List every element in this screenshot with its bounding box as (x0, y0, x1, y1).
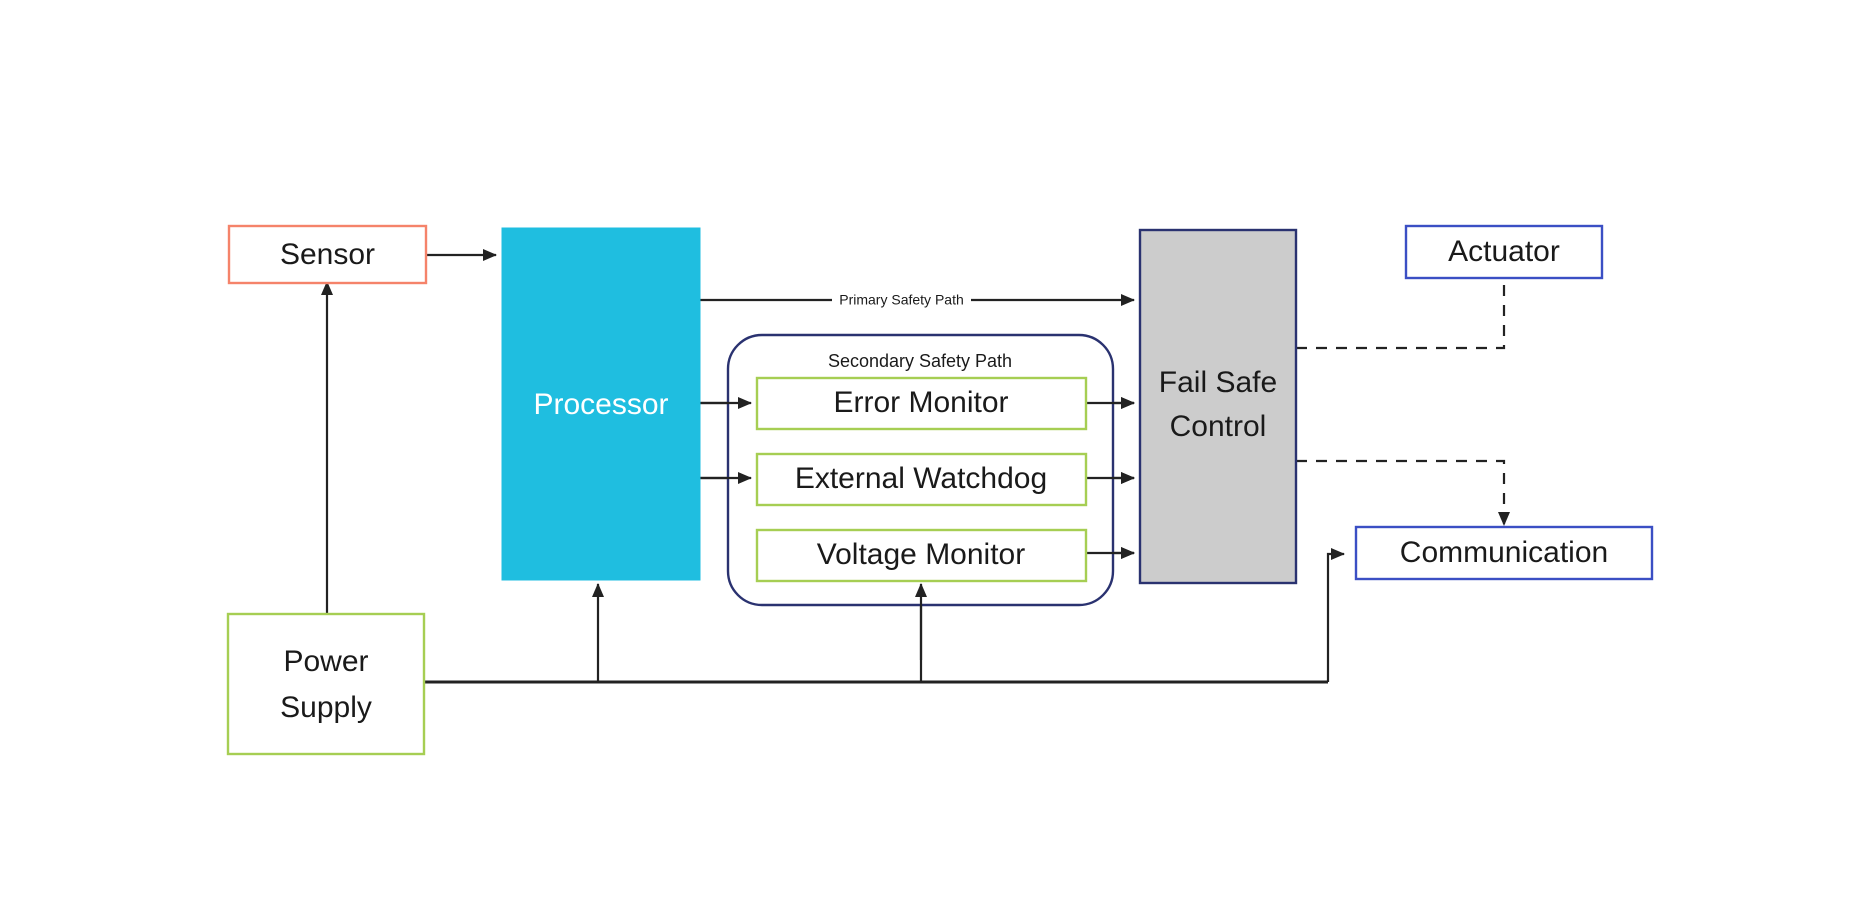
edge-fail-safe-to-communication (1296, 461, 1504, 525)
power-supply-box[interactable] (228, 614, 424, 754)
power-supply-label-line2: Supply (280, 691, 372, 724)
node-error-monitor[interactable]: Error Monitor (757, 378, 1086, 429)
node-external-watchdog[interactable]: External Watchdog (757, 454, 1086, 505)
voltage-monitor-label: Voltage Monitor (817, 538, 1025, 571)
node-communication[interactable]: Communication (1356, 527, 1652, 579)
error-monitor-label: Error Monitor (833, 386, 1008, 419)
node-fail-safe-control[interactable]: Fail Safe Control (1140, 230, 1296, 583)
block-diagram: Secondary Safety Path Sensor Processor E… (0, 0, 1876, 923)
processor-label: Processor (533, 388, 668, 421)
node-power-supply[interactable]: Power Supply (228, 614, 424, 754)
actuator-label: Actuator (1448, 235, 1560, 268)
node-actuator[interactable]: Actuator (1406, 226, 1602, 278)
communication-label: Communication (1400, 536, 1608, 569)
node-sensor[interactable]: Sensor (229, 226, 426, 283)
node-processor[interactable]: Processor (502, 228, 700, 580)
sensor-label: Sensor (280, 238, 375, 271)
diagram-canvas: Secondary Safety Path Sensor Processor E… (0, 0, 1876, 923)
fail-safe-control-label-line1: Fail Safe (1159, 366, 1277, 399)
fail-safe-control-label-line2: Control (1170, 410, 1267, 443)
primary-safety-path-label-group: Primary Safety Path (832, 288, 971, 312)
edge-power-supply-to-communication (1328, 554, 1344, 682)
primary-safety-path-label: Primary Safety Path (839, 292, 964, 308)
secondary-safety-path-label: Secondary Safety Path (828, 351, 1012, 371)
fail-safe-control-box[interactable] (1140, 230, 1296, 583)
external-watchdog-label: External Watchdog (795, 462, 1047, 495)
node-voltage-monitor[interactable]: Voltage Monitor (757, 530, 1086, 581)
power-supply-label-line1: Power (283, 645, 368, 678)
